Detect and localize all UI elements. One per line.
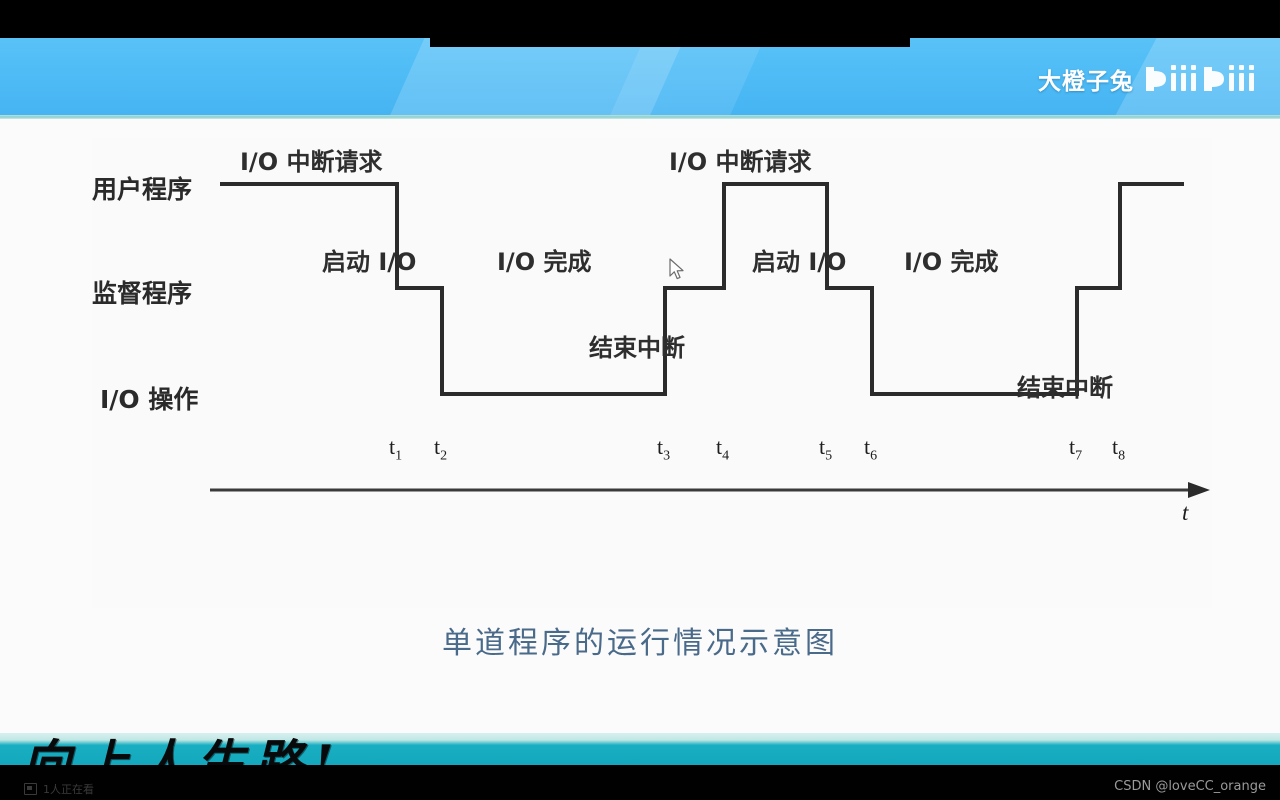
uploader-watermark: 大橙子兔 xyxy=(1038,58,1262,100)
tick-label-t5: t5 xyxy=(819,434,832,464)
letterbox-notch xyxy=(430,0,910,47)
time-axis-arrow-icon xyxy=(1188,482,1210,498)
annotation-end-interrupt-1: 结束中断 xyxy=(589,328,685,363)
annotation-io-complete-2: I/O 完成 xyxy=(904,242,998,277)
video-player-frame: 大橙子兔 xyxy=(0,0,1280,800)
figure-caption: 单道程序的运行情况示意图 xyxy=(0,618,1280,662)
viewers-icon xyxy=(24,783,37,795)
annotation-end-interrupt-2: 结束中断 xyxy=(1017,368,1113,403)
tick-label-t2: t2 xyxy=(434,434,447,464)
tick-label-t4: t4 xyxy=(716,434,729,464)
banner-divider xyxy=(0,115,1280,119)
time-axis-label: t xyxy=(1182,500,1188,526)
viewer-count-label: 1人正在看 xyxy=(43,781,94,797)
bilibili-logo-icon xyxy=(1144,61,1262,97)
uploader-name: 大橙子兔 xyxy=(1038,62,1134,96)
tick-label-t7: t7 xyxy=(1069,434,1082,464)
slide-header-banner: 大橙子兔 xyxy=(0,38,1280,115)
annotation-io-interrupt-request-2: I/O 中断请求 xyxy=(669,142,811,177)
waveform-path xyxy=(222,184,1182,394)
annotation-start-io-1: 启动 I/O xyxy=(322,242,416,277)
tick-label-t3: t3 xyxy=(657,434,670,464)
lane-label-user: 用户程序 xyxy=(92,170,192,206)
viewer-count: 1人正在看 xyxy=(24,781,94,797)
csdn-watermark: CSDN @loveCC_orange xyxy=(1114,779,1266,794)
tick-label-t6: t6 xyxy=(864,434,877,464)
annotation-io-complete-1: I/O 完成 xyxy=(497,242,591,277)
annotation-io-interrupt-request-1: I/O 中断请求 xyxy=(240,142,382,177)
lane-label-io: I/O 操作 xyxy=(100,380,198,416)
handwritten-note: 向上人生路! xyxy=(22,724,343,765)
tick-label-t1: t1 xyxy=(389,434,402,464)
slide-canvas: 大橙子兔 xyxy=(0,38,1280,765)
annotation-start-io-2: 启动 I/O xyxy=(752,242,846,277)
uniprogramming-diagram: 用户程序 监督程序 I/O 操作 I/O 中断请求 I/O 中断请求 启动 I/… xyxy=(92,138,1212,608)
lane-label-supervisor: 监督程序 xyxy=(92,274,192,310)
tick-label-t8: t8 xyxy=(1112,434,1125,464)
step-waveform xyxy=(222,184,1182,394)
letterbox-bottom xyxy=(0,765,1280,800)
